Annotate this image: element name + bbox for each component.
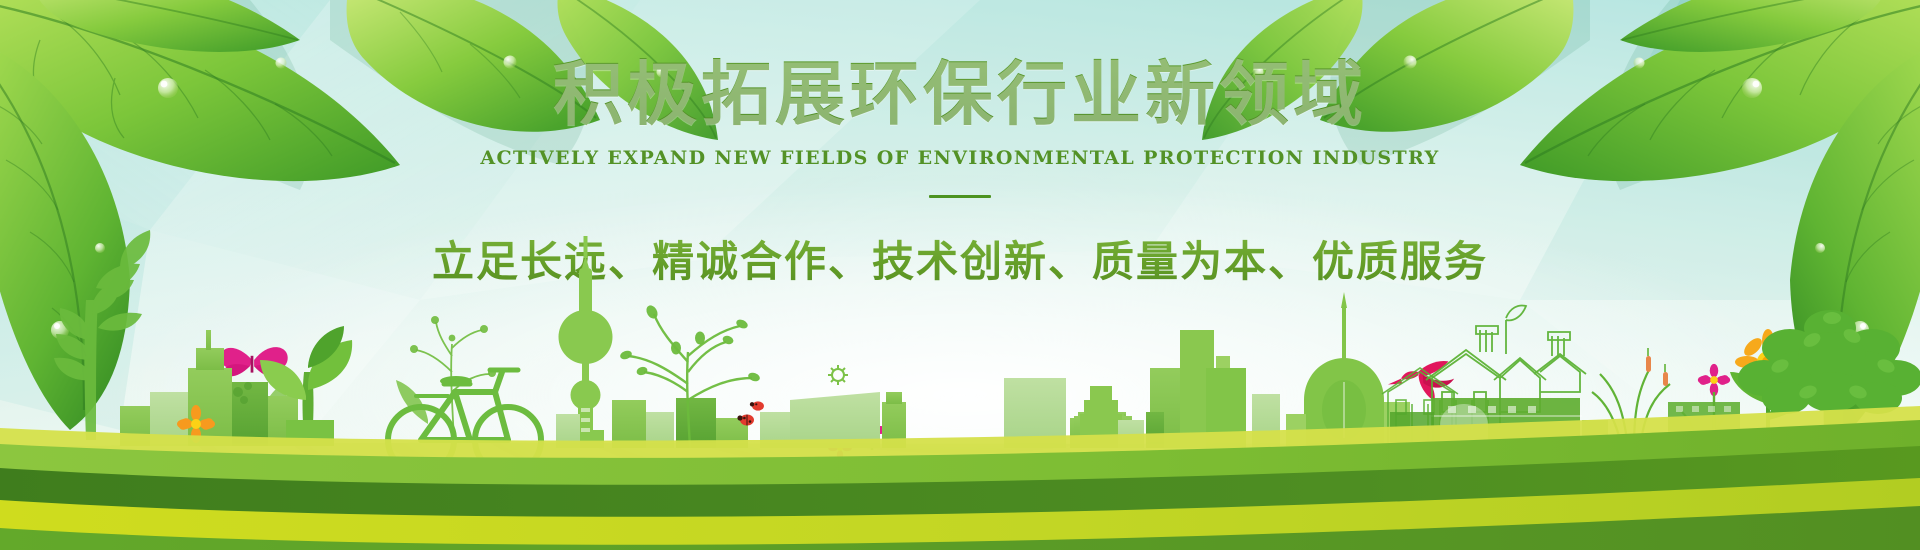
ground-wave-bands — [0, 0, 1920, 550]
eco-banner: 积极拓展环保行业新领域 ACTIVELY EXPAND NEW FIELDS O… — [0, 0, 1920, 550]
